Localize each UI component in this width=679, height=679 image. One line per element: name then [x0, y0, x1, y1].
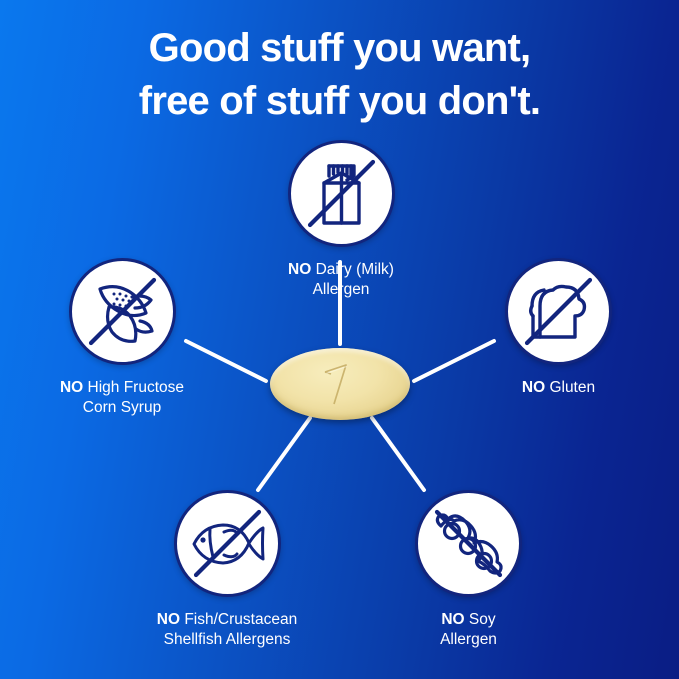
connector-soy	[372, 418, 424, 490]
badge-gluten: NO Gluten	[476, 258, 641, 398]
fish-icon	[174, 490, 281, 597]
badge-corn-syrup: NO High Fructose Corn Syrup	[15, 258, 229, 418]
badge-dairy-label: NO Dairy (Milk) Allergen	[235, 260, 447, 300]
badge-dairy-text2: Allergen	[313, 281, 370, 298]
badge-gluten-text: Gluten	[549, 379, 595, 396]
connector-fish	[258, 418, 310, 490]
badge-fish-label: NO Fish/Crustacean Shellfish Allergens	[117, 610, 337, 650]
badge-corn-syrup-text: High Fructose	[88, 379, 184, 396]
tablet-graphic	[270, 348, 410, 420]
badge-dairy-prefix: NO	[288, 261, 311, 278]
badge-soy: NO Soy Allergen	[404, 490, 533, 650]
soybean-pod-icon	[415, 490, 522, 597]
badge-corn-syrup-text2: Corn Syrup	[83, 399, 161, 416]
badge-soy-label: NO Soy Allergen	[404, 610, 533, 650]
badge-fish-text2: Shellfish Allergens	[164, 631, 291, 648]
badge-fish-prefix: NO	[157, 611, 180, 628]
badge-soy-prefix: NO	[441, 611, 464, 628]
badge-soy-text: Soy	[469, 611, 496, 628]
badge-gluten-label: NO Gluten	[476, 378, 641, 398]
badge-soy-text2: Allergen	[440, 631, 497, 648]
promo-graphic: Good stuff you want, free of stuff you d…	[0, 0, 679, 679]
badge-dairy-text: Dairy (Milk)	[316, 261, 394, 278]
badge-dairy: NO Dairy (Milk) Allergen	[235, 140, 447, 300]
badge-corn-syrup-label: NO High Fructose Corn Syrup	[15, 378, 229, 418]
tablet-imprint-icon	[270, 348, 410, 420]
bread-slice-icon	[505, 258, 612, 365]
tablet	[270, 348, 410, 420]
corn-cob-icon	[69, 258, 176, 365]
milk-carton-icon	[288, 140, 395, 247]
badge-fish-text: Fish/Crustacean	[184, 611, 297, 628]
badge-corn-syrup-prefix: NO	[60, 379, 83, 396]
badge-gluten-prefix: NO	[522, 379, 545, 396]
badge-fish: NO Fish/Crustacean Shellfish Allergens	[117, 490, 337, 650]
